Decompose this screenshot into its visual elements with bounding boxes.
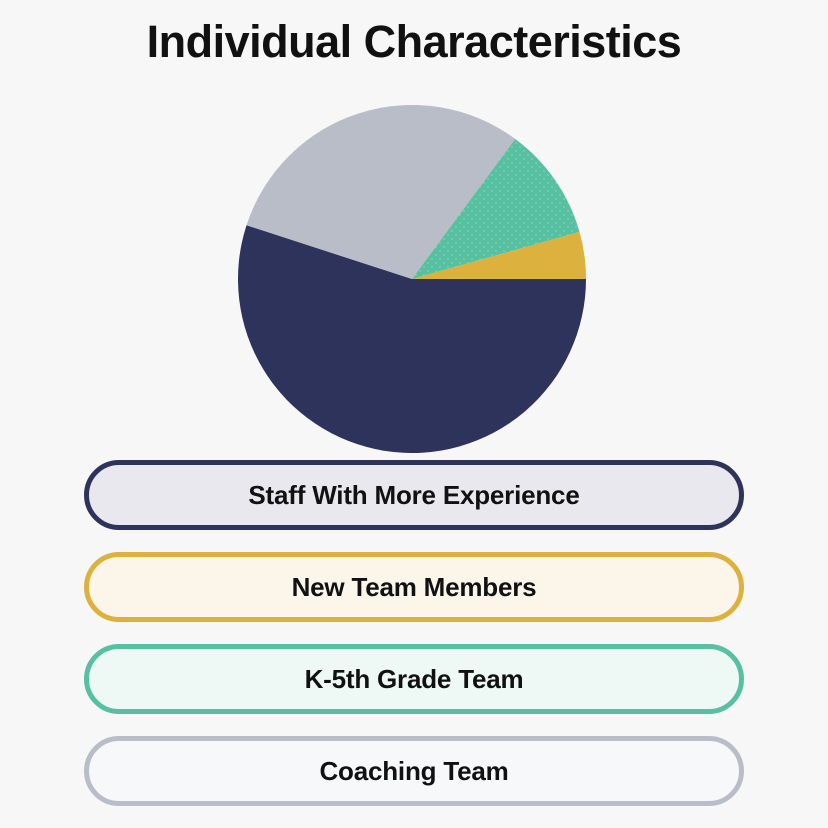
pie-chart <box>238 105 586 453</box>
legend: Staff With More Experience New Team Memb… <box>0 460 828 820</box>
legend-item-label: New Team Members <box>292 573 537 602</box>
legend-item-label: Staff With More Experience <box>248 481 579 510</box>
infographic-page: Individual Characteristics Staff With Mo… <box>0 0 828 828</box>
legend-item-label: Coaching Team <box>319 757 508 786</box>
legend-item-label: K-5th Grade Team <box>305 665 524 694</box>
legend-item-coaching-team[interactable]: Coaching Team <box>84 736 744 806</box>
legend-item-staff-with-more-experience[interactable]: Staff With More Experience <box>84 460 744 530</box>
pie-chart-svg <box>238 105 586 453</box>
legend-item-new-team-members[interactable]: New Team Members <box>84 552 744 622</box>
legend-item-k-5th-grade-team[interactable]: K-5th Grade Team <box>84 644 744 714</box>
page-title: Individual Characteristics <box>0 16 828 68</box>
